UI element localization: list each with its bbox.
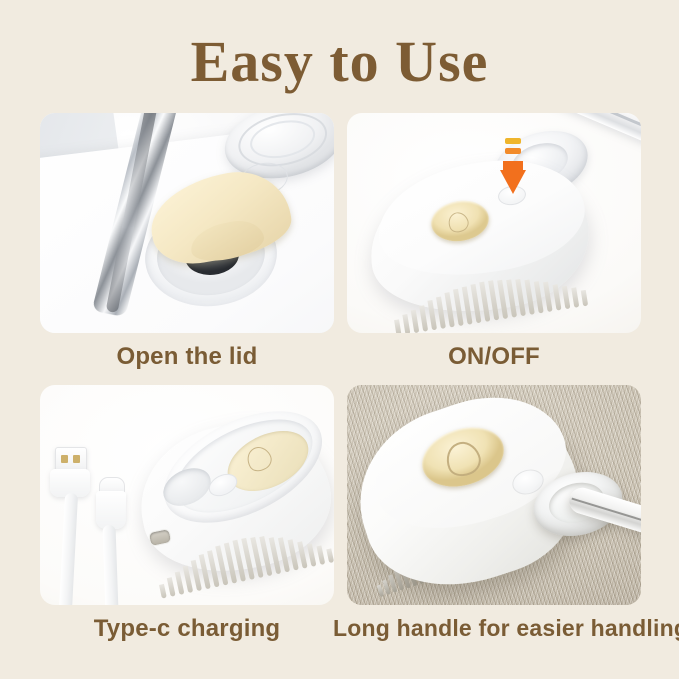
photo-open-the-lid bbox=[40, 113, 334, 333]
bristle bbox=[444, 292, 454, 327]
bristle bbox=[167, 578, 176, 597]
bristle bbox=[377, 585, 385, 598]
bristle bbox=[394, 319, 401, 333]
bristle bbox=[428, 300, 438, 330]
photo-on-off bbox=[347, 113, 641, 333]
panel-on-off bbox=[347, 113, 641, 333]
bristle bbox=[419, 305, 428, 332]
bristle bbox=[581, 290, 588, 307]
caption-on-off: ON/OFF bbox=[347, 343, 641, 371]
arrow-segment-top bbox=[505, 138, 521, 144]
usb-c-cable bbox=[102, 525, 118, 605]
panel-type-c-charging bbox=[40, 385, 334, 605]
caption-open-the-lid: Open the lid bbox=[40, 343, 334, 371]
arrow-segment-mid bbox=[505, 148, 521, 154]
usb-c-housing bbox=[96, 491, 126, 529]
caption-type-c-charging: Type-c charging bbox=[40, 615, 334, 643]
bristle bbox=[317, 546, 326, 565]
bristle bbox=[534, 281, 544, 314]
bristle bbox=[571, 288, 579, 308]
bristle bbox=[411, 310, 420, 333]
bristle bbox=[326, 548, 334, 563]
bristle bbox=[159, 584, 167, 599]
usb-a-cable bbox=[59, 493, 78, 605]
bristle bbox=[562, 286, 571, 310]
bristle bbox=[552, 284, 561, 311]
panel-long-handle bbox=[347, 385, 641, 605]
usb-a-pin-left bbox=[61, 455, 68, 463]
arrow-head bbox=[500, 170, 526, 194]
photo-long-handle bbox=[347, 385, 641, 605]
bristle bbox=[543, 282, 553, 312]
bristle bbox=[524, 280, 534, 315]
page-title: Easy to Use bbox=[0, 32, 679, 93]
caption-long-handle: Long handle for easier handling bbox=[333, 615, 655, 642]
bristle bbox=[175, 571, 185, 595]
infographic-page: Easy to Use Open the lid bbox=[0, 0, 679, 679]
photo-type-c-charging bbox=[40, 385, 334, 605]
bristle bbox=[436, 296, 446, 329]
usb-a-pin-right bbox=[73, 455, 80, 463]
down-arrow-icon bbox=[500, 137, 526, 183]
panel-open-the-lid bbox=[40, 113, 334, 333]
bristle bbox=[307, 543, 317, 567]
bristle bbox=[402, 314, 410, 333]
